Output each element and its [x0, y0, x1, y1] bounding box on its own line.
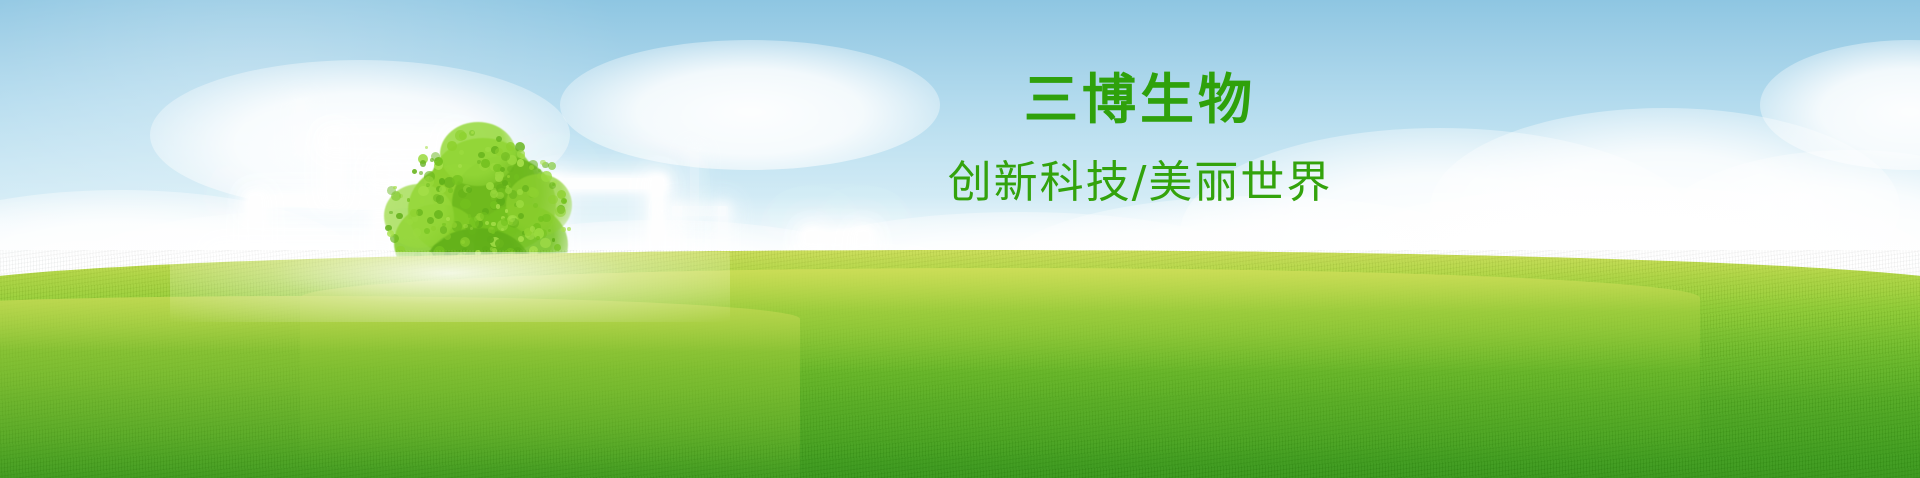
tree-leaf [501, 218, 508, 225]
tree-leaf [468, 227, 476, 235]
tree-leaf [496, 204, 500, 208]
tree-leaf [463, 224, 468, 229]
tree-leaf [517, 150, 524, 157]
building-outline-segment [296, 100, 305, 154]
tree-leaf [495, 239, 504, 248]
tree-leaf [447, 141, 457, 151]
tree-leaf [431, 226, 436, 231]
tree-leaf [505, 209, 508, 212]
tree-leaf [509, 216, 515, 222]
building-outline-segment [250, 196, 388, 207]
building-outline-segment [690, 150, 699, 220]
tree-leaf [518, 213, 524, 219]
tree-leaf [424, 176, 435, 187]
tree-leaf [427, 217, 434, 224]
tree-leaf [410, 209, 418, 217]
tree-leaf [506, 142, 515, 151]
page-subtitle: 创新科技/美丽世界 [820, 159, 1460, 207]
tree-leaf [529, 165, 534, 170]
tree-leaf [536, 236, 540, 240]
tree-leaf [419, 171, 423, 175]
tree-leaf [549, 182, 556, 189]
tree-leaf [552, 238, 556, 242]
tree-leaf [412, 169, 417, 174]
tree-leaf [555, 206, 566, 217]
tree-leaf [542, 214, 550, 222]
tree-leaf [567, 227, 571, 231]
tree-leaf [455, 130, 466, 141]
tree-leaf [430, 158, 434, 162]
tree-leaf [407, 198, 410, 201]
tree-leaf [446, 217, 450, 221]
tree-leaf [439, 178, 446, 185]
tree-leaf [468, 214, 472, 218]
tree-leaf [418, 186, 428, 196]
grass-field [0, 250, 1920, 478]
tree-leaf [548, 195, 557, 204]
tree-leaf [396, 213, 403, 220]
headline-block: 三博生物 创新科技/美丽世界 [820, 72, 1460, 207]
page-title: 三博生物 [820, 72, 1460, 129]
tree-leaf [452, 175, 463, 186]
tree-leaf [548, 162, 556, 170]
tree-leaf [420, 160, 426, 166]
tree-leaf [440, 226, 448, 234]
tree-leaf [496, 192, 504, 200]
tree-leaf [485, 147, 490, 152]
tree-leaf [561, 227, 566, 232]
tree-leaf [487, 236, 494, 243]
tree-leaf [460, 199, 470, 209]
tree-leaf [507, 166, 513, 172]
tree-leaf [530, 226, 535, 231]
tree-leaf [496, 136, 502, 142]
building-outline-segment [250, 196, 261, 256]
grass-ridge-front [0, 296, 800, 478]
tree-leaf [517, 159, 524, 166]
tree-leaf [481, 159, 489, 167]
tree-leaf [393, 186, 397, 190]
tree-leaf [448, 188, 453, 193]
tree-leaf [514, 174, 519, 179]
tree-leaf [461, 240, 465, 244]
tree-leaf [500, 167, 505, 172]
tree-leaf [480, 212, 488, 220]
tree-leaf [419, 198, 425, 204]
tree-leaf [425, 146, 428, 149]
hero-banner: 三博生物 创新科技/美丽世界 [0, 0, 1920, 478]
tree-leaf [541, 171, 551, 181]
tree-leaf [413, 228, 421, 236]
tree-leaf [522, 185, 529, 192]
tree-leaf [478, 152, 484, 158]
tree-leaf [407, 219, 413, 225]
tree-leaf [387, 230, 394, 237]
tree-leaf [540, 238, 550, 248]
